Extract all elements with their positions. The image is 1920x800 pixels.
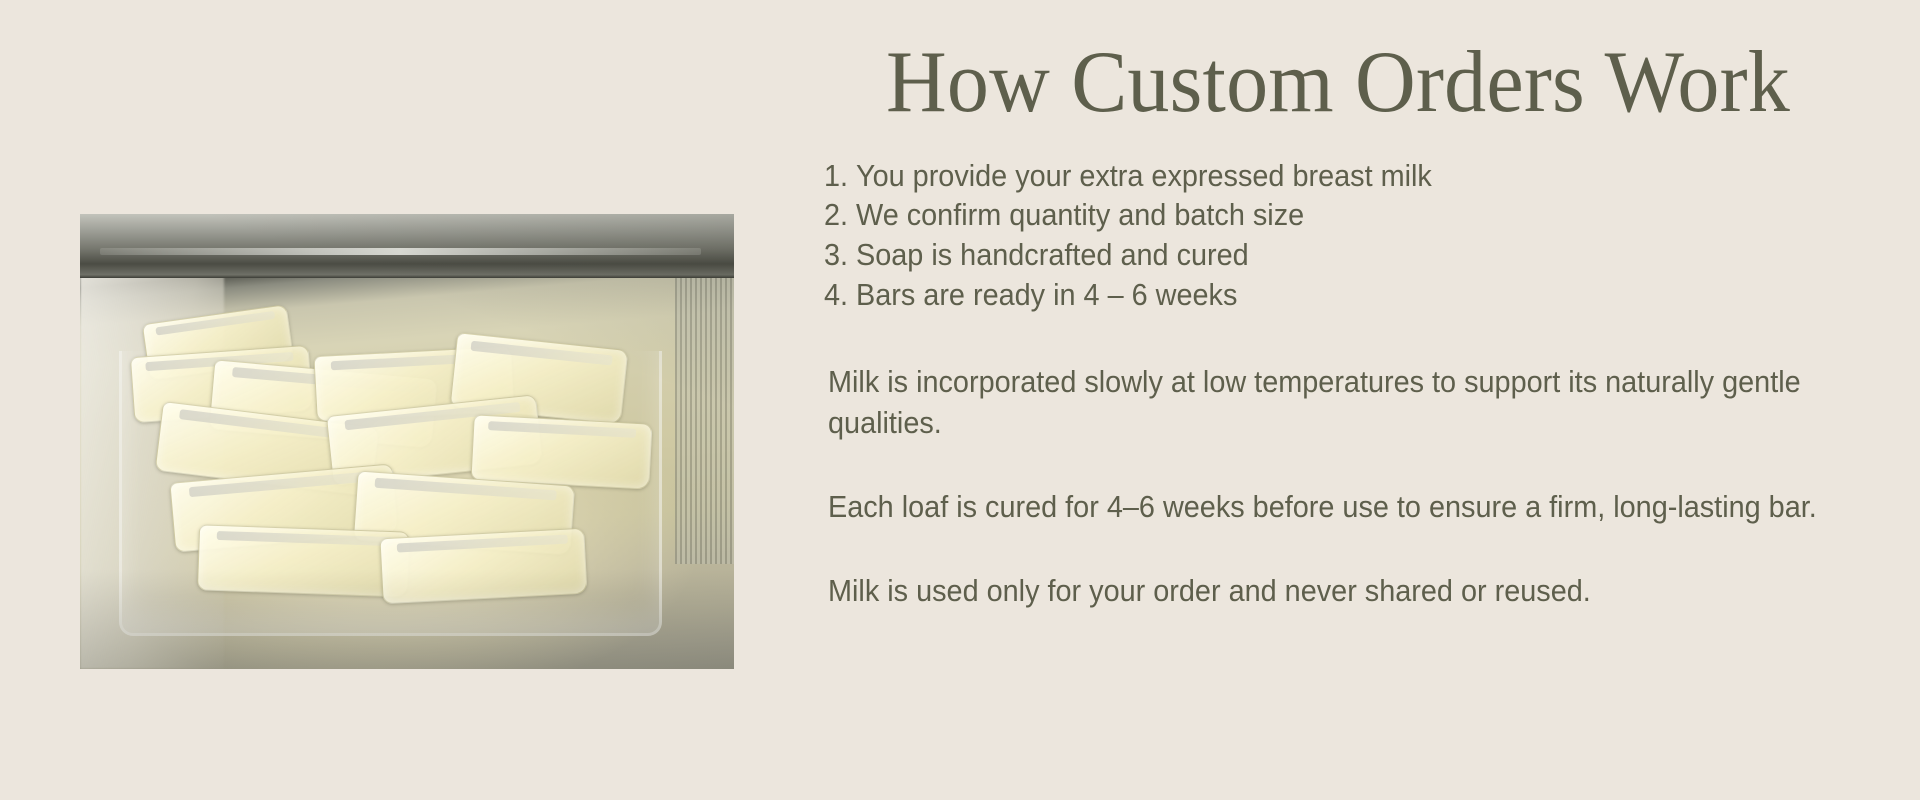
freezer-drawer-basket: [119, 351, 661, 636]
step-item-4: Bars are ready in 4 – 6 weeks: [856, 275, 1779, 315]
frozen-breast-milk-bags-photo: [80, 214, 734, 669]
rail-highlight: [100, 248, 702, 255]
paragraph-milk-exclusivity: Milk is used only for your order and nev…: [828, 571, 1842, 611]
media-column: [80, 214, 734, 669]
content-column: How Custom Orders Work You provide your …: [828, 38, 1848, 612]
step-item-1: You provide your extra expressed breast …: [856, 156, 1779, 196]
freezer-drawer-rail: [80, 214, 734, 278]
page-root: How Custom Orders Work You provide your …: [0, 0, 1920, 800]
freezer-vent-grille: [675, 264, 734, 564]
step-item-3: Soap is handcrafted and cured: [856, 235, 1779, 275]
paragraph-milk-incorporation: Milk is incorporated slowly at low tempe…: [828, 362, 1842, 443]
page-title: How Custom Orders Work: [851, 38, 1825, 128]
step-item-2: We confirm quantity and batch size: [856, 195, 1779, 235]
paragraph-curing-time: Each loaf is cured for 4–6 weeks before …: [828, 487, 1842, 527]
how-it-works-steps: You provide your extra expressed breast …: [828, 156, 1848, 315]
